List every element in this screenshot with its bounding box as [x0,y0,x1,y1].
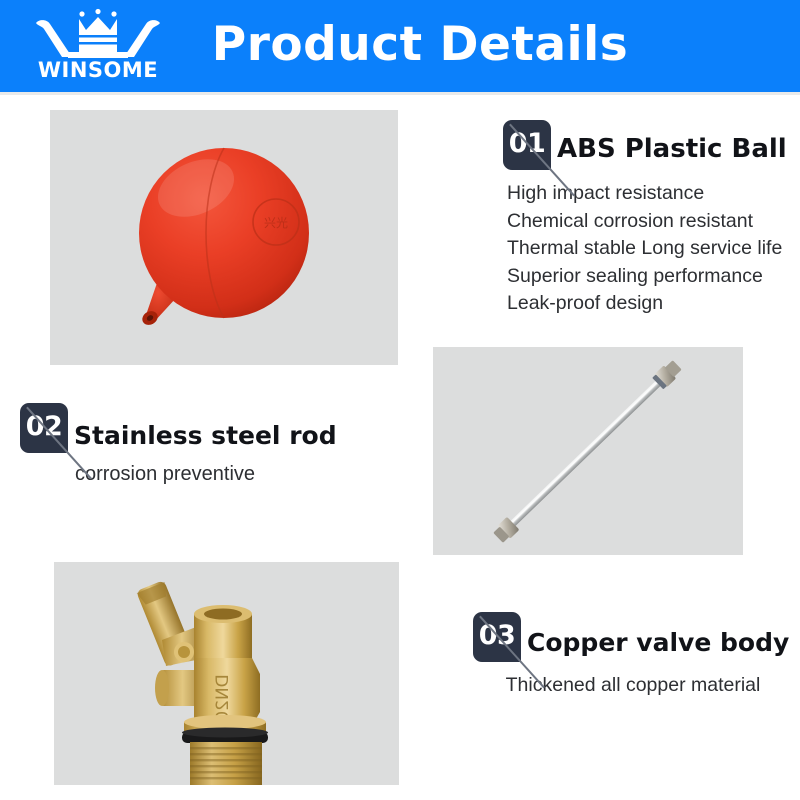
feature-block-01: 01 ABS Plastic Ball High impact resistan… [503,120,800,318]
feature-bullet: Thermal stable Long service life [507,235,800,263]
page-title: Product Details [0,0,800,92]
feature-01-bullet-list: High impact resistance Chemical corrosio… [507,180,800,318]
svg-text:DN20: DN20 [213,674,233,721]
feature-02-header: 02 Stainless steel rod [20,403,360,457]
feature-01-header: 01 ABS Plastic Ball [503,120,800,174]
feature-block-03: 03 Copper valve body Thickened all coppe… [473,612,793,697]
feature-bullet: Leak-proof design [507,290,800,318]
feature-03-header: 03 Copper valve body [473,612,793,666]
feature-03-title: Copper valve body [527,628,789,657]
product-image-ball: 兴光 [50,110,398,365]
product-details-page: WINSOME Product Details [0,0,800,800]
feature-bullet: Superior sealing performance [507,263,800,291]
feature-02-title: Stainless steel rod [74,421,337,450]
product-image-rod [433,347,743,555]
feature-block-02: 02 Stainless steel rod corrosion prevent… [20,403,360,486]
product-image-valve: DN20 [54,562,399,785]
feature-bullet: Chemical corrosion resistant [507,208,800,236]
page-header: WINSOME Product Details [0,0,800,92]
svg-text:兴光: 兴光 [264,216,288,230]
feature-01-title: ABS Plastic Ball [557,134,787,164]
header-divider [0,92,800,95]
